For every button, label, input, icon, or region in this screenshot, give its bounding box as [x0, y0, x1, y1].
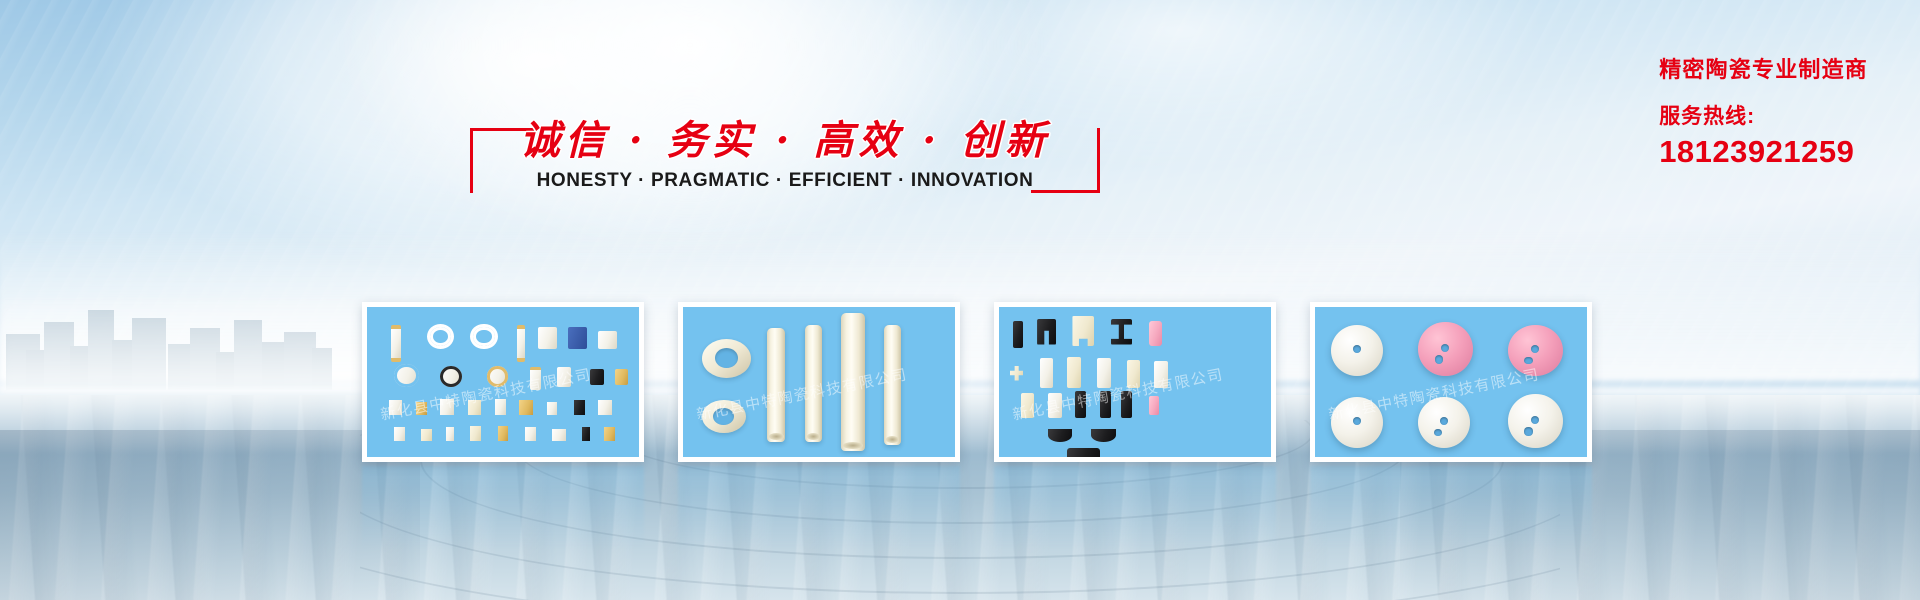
ceramic-part [1121, 391, 1132, 418]
hotline-number[interactable]: 18123921259 [1659, 134, 1868, 170]
ceramic-part [1111, 319, 1133, 345]
ceramic-part [525, 427, 536, 441]
ceramic-part [1418, 397, 1470, 448]
ceramic-part [391, 325, 401, 362]
ceramic-part [394, 427, 405, 441]
ceramic-part [1508, 394, 1562, 448]
ceramic-part [1021, 393, 1035, 419]
panel-small-ceramic-components[interactable]: 新化县中特陶瓷科技有限公司 [362, 302, 644, 462]
ceramic-part [1048, 429, 1072, 443]
ceramic-part [389, 400, 403, 415]
ceramic-part [530, 367, 541, 390]
ceramic-part [440, 366, 462, 387]
atmospheric-haze [0, 300, 420, 395]
ceramic-part [517, 325, 525, 362]
ceramic-part [574, 400, 585, 415]
ceramic-part [427, 324, 454, 350]
ceramic-part [767, 328, 785, 442]
disc-hole [1440, 417, 1448, 425]
promotional-banner: 诚信 · 务实 · 高效 · 创新 HONESTY · PRAGMATIC · … [0, 0, 1920, 600]
ceramic-part [470, 324, 497, 350]
ceramic-part [1037, 319, 1056, 345]
product-panel-row: 新化县中特陶瓷科技有限公司 新化县中特陶瓷科技有限公司 新化县中特陶瓷科技有限公… [362, 302, 1594, 462]
panel-reflection [1310, 466, 1592, 550]
ceramic-part [557, 367, 571, 387]
panel-ceramic-discs[interactable]: 新化县中特陶瓷科技有限公司 [1310, 302, 1592, 462]
disc-hole [1353, 345, 1361, 353]
panel-reflections [362, 466, 1594, 550]
disc-hole [1524, 357, 1532, 365]
ceramic-part [568, 327, 587, 350]
panel-reflection [678, 466, 960, 550]
ceramic-part [1331, 325, 1383, 376]
ceramic-part [446, 427, 454, 441]
ceramic-part [1013, 321, 1024, 348]
hotline-label: 服务热线: [1659, 100, 1868, 130]
panel-image-2: 新化县中特陶瓷科技有限公司 [683, 307, 955, 457]
panel-reflection [994, 466, 1276, 550]
ceramic-part [1097, 358, 1111, 388]
ceramic-part [1100, 391, 1111, 418]
ceramic-part [615, 369, 629, 386]
slogan-english: HONESTY · PRAGMATIC · EFFICIENT · INNOVA… [470, 170, 1100, 192]
ceramic-part [1508, 325, 1562, 376]
ceramic-part [1075, 391, 1086, 418]
disc-hole [1435, 355, 1443, 363]
ceramic-part [805, 325, 821, 442]
ceramic-part [547, 402, 558, 416]
disc-hole [1353, 417, 1361, 425]
ceramic-part [1418, 322, 1472, 376]
ceramic-part [598, 400, 612, 415]
ceramic-part [590, 369, 604, 386]
ceramic-part [394, 364, 418, 387]
ceramic-part [498, 426, 509, 441]
ceramic-part [487, 366, 509, 387]
disc-hole [1434, 429, 1442, 437]
ceramic-part [1149, 396, 1160, 416]
ceramic-part [1010, 366, 1024, 381]
ceramic-part [440, 399, 454, 416]
ceramic-part [1149, 321, 1163, 347]
ceramic-part [598, 331, 617, 349]
ceramic-part [468, 400, 482, 415]
ceramic-part [416, 402, 427, 416]
ceramic-part [421, 429, 432, 441]
panel-ceramic-blocks-and-bars[interactable]: 新化县中特陶瓷科技有限公司 [994, 302, 1276, 462]
ceramic-part [1072, 316, 1094, 346]
ceramic-part [495, 399, 506, 416]
disc-hole [1531, 345, 1539, 353]
ceramic-part [884, 325, 900, 445]
slogan-block: 诚信 · 务实 · 高效 · 创新 HONESTY · PRAGMATIC · … [470, 108, 1100, 203]
disc-hole [1441, 344, 1449, 352]
ceramic-part [538, 327, 557, 350]
ceramic-part [552, 429, 566, 441]
panel-ceramic-tubes-and-rings[interactable]: 新化县中特陶瓷科技有限公司 [678, 302, 960, 462]
ceramic-part [1067, 357, 1081, 389]
contact-block: 精密陶瓷专业制造商 服务热线: 18123921259 [1659, 52, 1868, 170]
ceramic-part [1091, 429, 1115, 443]
panel-image-4: 新化县中特陶瓷科技有限公司 [1315, 307, 1587, 457]
ceramic-part [470, 426, 481, 441]
panel-reflection [362, 466, 644, 550]
ceramic-part [604, 427, 615, 441]
slogan-chinese: 诚信 · 务实 · 高效 · 创新 [470, 108, 1100, 166]
panel-image-3: 新化县中特陶瓷科技有限公司 [999, 307, 1271, 457]
ceramic-part [1048, 393, 1062, 419]
ground-shadow-left [0, 430, 420, 600]
ceramic-part [1067, 448, 1100, 457]
ceramic-part [1040, 358, 1054, 388]
ceramic-part [1331, 397, 1383, 448]
disc-hole [1531, 416, 1539, 424]
ceramic-part [582, 427, 590, 441]
ceramic-part [702, 339, 751, 378]
company-tagline: 精密陶瓷专业制造商 [1659, 52, 1868, 84]
ceramic-part [702, 400, 746, 433]
ceramic-part [841, 313, 865, 451]
ceramic-part [519, 400, 533, 415]
ceramic-part [1154, 361, 1168, 388]
disc-hole [1524, 427, 1532, 435]
panel-image-1: 新化县中特陶瓷科技有限公司 [367, 307, 639, 457]
ceramic-part [1127, 360, 1141, 389]
